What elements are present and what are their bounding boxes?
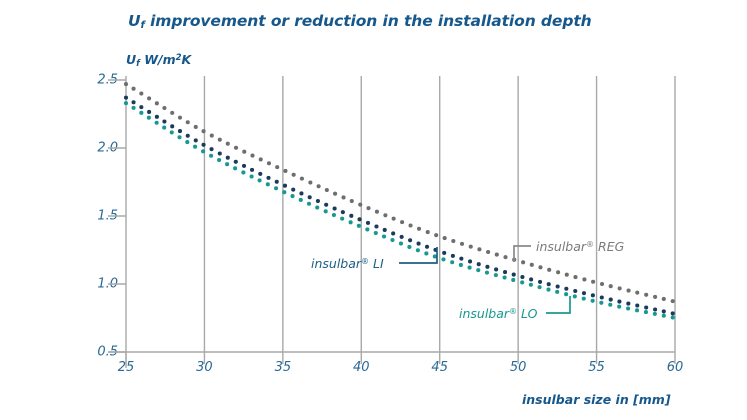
series-insulbar-lo [124,101,675,320]
annotation-reg-text: insulbar [536,239,586,254]
annotation-lo-suffix: LO [517,306,537,321]
annotation-insulbar-reg: insulbar® REG [536,239,624,254]
leader-line-insulbar-lo [546,296,570,313]
leader-line-insulbar-reg [514,246,531,262]
chart-root: Uf improvement or reduction in the insta… [0,0,747,420]
plot-area [0,0,747,420]
annotation-insulbar-li: insulbar® LI [311,256,384,271]
annotation-lo-registered-icon: ® [509,307,517,316]
annotation-reg-registered-icon: ® [586,240,594,249]
series-insulbar-reg [124,82,675,303]
annotation-reg-suffix: REG [594,239,624,254]
annotation-li-registered-icon: ® [361,257,369,266]
annotation-lo-text: insulbar [459,306,509,321]
annotation-insulbar-lo: insulbar® LO [459,306,537,321]
annotation-li-suffix: LI [369,256,384,271]
annotation-li-text: insulbar [311,256,361,271]
